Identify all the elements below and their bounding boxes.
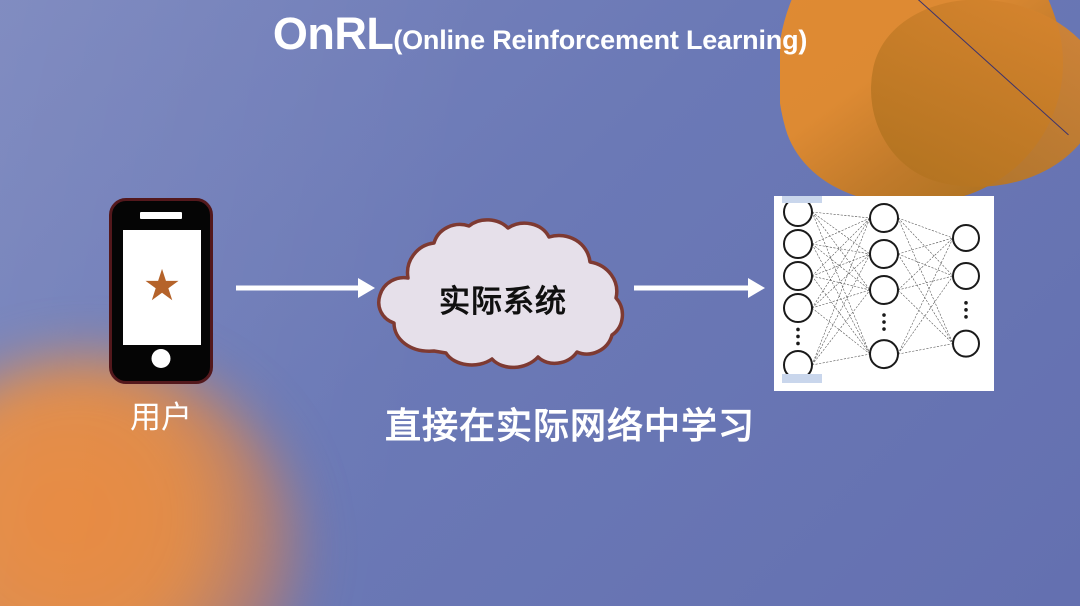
phone-home-button-icon bbox=[152, 349, 171, 368]
selection-artifact-top bbox=[782, 196, 822, 203]
slide-canvas: ND VID POSSIBIL OnRL(Online Reinforcemen… bbox=[0, 0, 1080, 606]
selection-artifact-bottom bbox=[782, 374, 822, 383]
neural-network-ellipses bbox=[796, 301, 968, 345]
arrow-shaft bbox=[236, 286, 360, 291]
neural-network-diagram bbox=[774, 196, 994, 391]
phone-speaker-icon bbox=[140, 212, 182, 219]
cloud-label: 实际系统 bbox=[372, 219, 634, 377]
title-sub-label: (Online Reinforcement Learning) bbox=[393, 25, 807, 55]
smartphone-icon: ★ bbox=[109, 198, 213, 384]
phone-screen: ★ bbox=[123, 230, 201, 345]
arrow-right-icon-user-to-system bbox=[236, 277, 376, 299]
neural-network-nodes bbox=[784, 198, 979, 379]
cloud-shape: 实际系统 bbox=[372, 219, 634, 377]
arrow-shaft bbox=[634, 286, 750, 291]
page-title: OnRL(Online Reinforcement Learning) bbox=[0, 8, 1080, 60]
arrow-head bbox=[748, 278, 765, 298]
arrow-right-icon-system-to-network bbox=[634, 277, 766, 299]
neural-network-svg bbox=[774, 196, 994, 391]
slide-caption: 直接在实际网络中学习 bbox=[0, 397, 1080, 449]
title-main-label: OnRL bbox=[273, 8, 393, 59]
star-icon: ★ bbox=[143, 265, 182, 308]
